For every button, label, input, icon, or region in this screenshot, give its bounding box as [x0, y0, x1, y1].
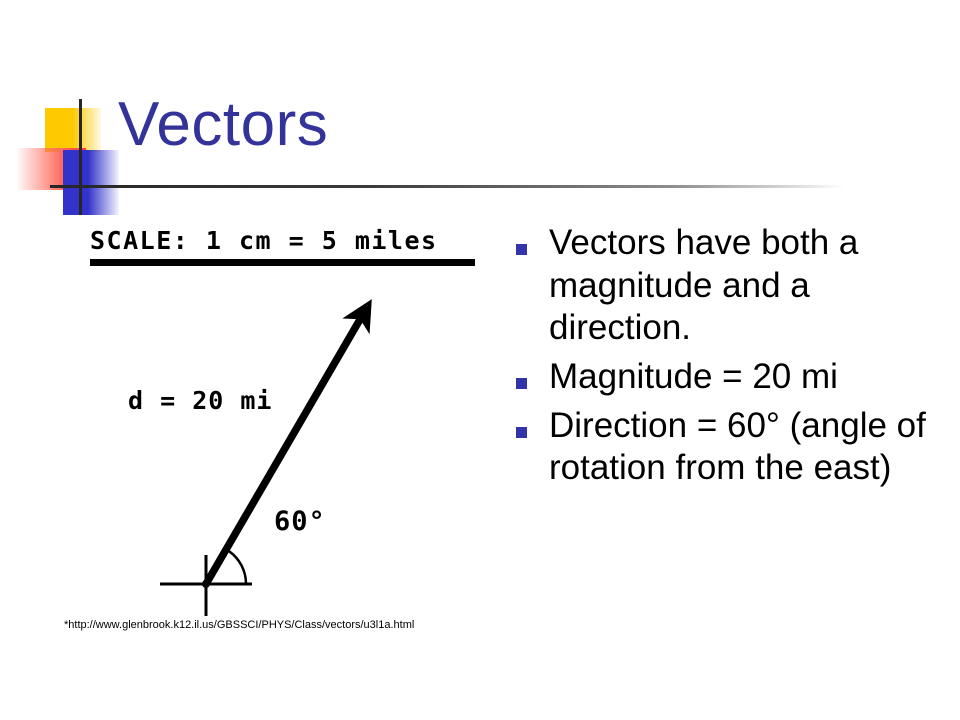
title-underline-rule	[50, 185, 845, 188]
slide: Vectors SCALE: 1 cm = 5 miles d = 20 mi …	[0, 0, 960, 720]
page-title: Vectors	[118, 94, 328, 156]
angle-label: 60°	[274, 506, 326, 537]
vector-arrow-graphic	[0, 218, 500, 648]
square-bullet-icon	[516, 244, 527, 255]
square-bullet-icon	[516, 427, 527, 438]
list-item: Magnitude = 20 mi	[516, 356, 946, 399]
decoration-blue-block	[63, 150, 119, 215]
bullet-text: Magnitude = 20 mi	[549, 356, 946, 399]
list-item: Direction = 60° (angle of rotation from …	[516, 405, 946, 490]
decoration-vertical-line	[79, 99, 82, 215]
distance-label: d = 20 mi	[128, 386, 272, 415]
list-item: Vectors have both a magnitude and a dire…	[516, 222, 946, 350]
bullet-list: Vectors have both a magnitude and a dire…	[516, 222, 946, 496]
decoration-yellow-block	[45, 108, 101, 152]
square-bullet-icon	[516, 378, 527, 389]
source-url-footnote: *http://www.glenbrook.k12.il.us/GBSSCI/P…	[64, 619, 414, 631]
bullet-text: Vectors have both a magnitude and a dire…	[549, 222, 946, 350]
bullet-text: Direction = 60° (angle of rotation from …	[549, 405, 946, 490]
vector-diagram: SCALE: 1 cm = 5 miles d = 20 mi 60°	[0, 218, 500, 648]
